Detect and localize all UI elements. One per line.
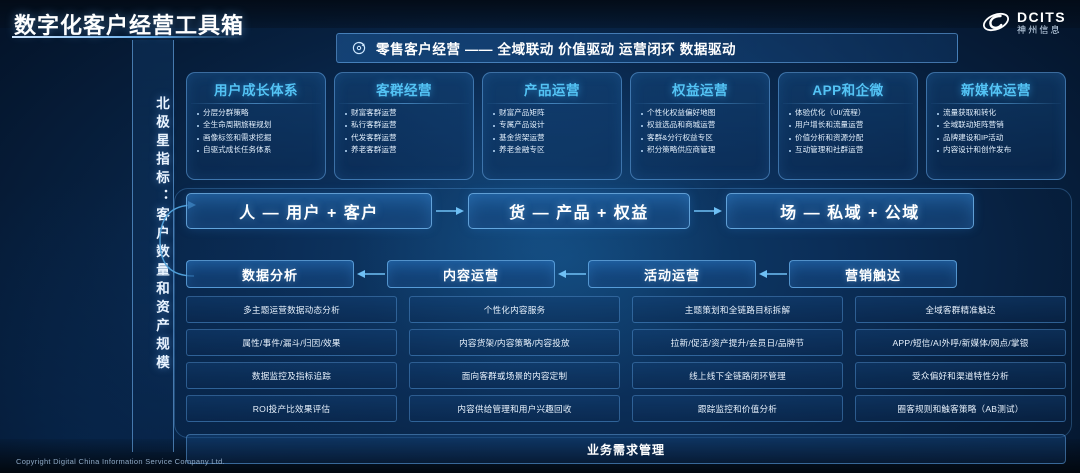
capability-card[interactable]: 客群经营 财富客群运营 私行客群运营 代发客群运营 养老客群运营	[334, 72, 474, 180]
card-title: 产品运营	[487, 79, 617, 103]
detail-grid: 多主题运营数据动态分析 属性/事件/漏斗/归因/效果 数据监控及指标追踪 ROI…	[186, 296, 1066, 426]
flow-pill-row: 人 — 用户 + 客户 货 — 产品 + 权益 场 — 私域 + 公域	[186, 193, 1066, 229]
list-item-label: 全生命周期旅程规划	[203, 120, 271, 130]
bottom-bar[interactable]: 业务需求管理	[186, 434, 1066, 464]
bullet-icon	[345, 113, 347, 115]
headline-banner: 零售客户经营 —— 全域联动 价值驱动 运营闭环 数据驱动	[336, 33, 958, 63]
list-item: 品牌建设和IP活动	[937, 133, 1059, 143]
list-item-label: 用户增长和流量运营	[795, 120, 863, 130]
detail-cell[interactable]: 圈客规则和触客策略（AB测试）	[855, 395, 1066, 422]
detail-cell[interactable]: 拉新/促活/资产提升/会员日/品牌节	[632, 329, 843, 356]
list-item-label: 财富产品矩阵	[499, 108, 545, 118]
list-item: 财富客群运营	[345, 108, 467, 118]
list-item-label: 基金货架运营	[499, 133, 545, 143]
detail-cell[interactable]: 全域客群精准触达	[855, 296, 1066, 323]
list-item: 内容设计和创作发布	[937, 145, 1059, 155]
list-item-label: 流量获取和转化	[943, 108, 996, 118]
detail-column-campaign-ops: 主题策划和全链路目标拆解 拉新/促活/资产提升/会员日/品牌节 线上线下全链路闭…	[632, 296, 843, 426]
list-item: 积分策略供应商管理	[641, 145, 763, 155]
detail-column-data-analysis: 多主题运营数据动态分析 属性/事件/漏斗/归因/效果 数据监控及指标追踪 ROI…	[186, 296, 397, 426]
list-item: 全生命周期旅程规划	[197, 120, 319, 130]
card-list: 体验优化（UI/流程） 用户增长和流量运营 价值分析和资源分配 互动管理和社群运…	[783, 104, 913, 155]
section-header-row: 数据分析 内容运营 活动运营 营销触达	[186, 260, 1066, 288]
capability-card-row: 用户成长体系 分层分群策略 全生命周期旅程规划 画像标签和需求挖掘 自驱式成长任…	[186, 72, 1066, 180]
card-list: 个性化权益偏好地图 权益选品和商城运营 客群&分行权益专区 积分策略供应商管理	[635, 104, 765, 155]
detail-cell[interactable]: 数据监控及指标追踪	[186, 362, 397, 389]
bullet-icon	[789, 150, 791, 152]
bullet-icon	[641, 113, 643, 115]
section-header-campaign-ops[interactable]: 活动运营	[588, 260, 756, 288]
list-item-label: 画像标签和需求挖掘	[203, 133, 271, 143]
list-item-label: 养老金融专区	[499, 145, 545, 155]
list-item-label: 价值分析和资源分配	[795, 133, 863, 143]
bullet-icon	[641, 125, 643, 127]
section-header-content-ops[interactable]: 内容运营	[387, 260, 555, 288]
list-item-label: 内容设计和创作发布	[943, 145, 1011, 155]
flow-arrow-right	[432, 205, 468, 217]
card-list: 分层分群策略 全生命周期旅程规划 画像标签和需求挖掘 自驱式成长任务体系	[191, 104, 321, 155]
detail-cell[interactable]: 线上线下全链路闭环管理	[632, 362, 843, 389]
logo-text-en: DCITS	[1017, 10, 1066, 24]
list-item: 权益选品和商城运营	[641, 120, 763, 130]
list-item-label: 积分策略供应商管理	[647, 145, 715, 155]
list-item: 私行客群运营	[345, 120, 467, 130]
bullet-icon	[197, 125, 199, 127]
list-item: 价值分析和资源分配	[789, 133, 911, 143]
section-header-marketing-reach[interactable]: 营销触达	[789, 260, 957, 288]
list-item: 专属产品设计	[493, 120, 615, 130]
flow-arrow-left	[354, 268, 387, 280]
bullet-icon	[197, 113, 199, 115]
list-item-label: 财富客群运营	[351, 108, 397, 118]
card-title: 权益运营	[635, 79, 765, 103]
capability-card[interactable]: 新媒体运营 流量获取和转化 全域联动矩阵营销 品牌建设和IP活动 内容设计和创作…	[926, 72, 1066, 180]
list-item: 自驱式成长任务体系	[197, 145, 319, 155]
flow-arrow-right	[690, 205, 726, 217]
bullet-icon	[789, 138, 791, 140]
title-underline	[12, 36, 244, 38]
list-item-label: 体验优化（UI/流程）	[795, 108, 865, 118]
swirl-logo-icon	[981, 9, 1011, 35]
card-title: 客群经营	[339, 79, 469, 103]
list-item: 互动管理和社群运营	[789, 145, 911, 155]
logo-text-cn: 神州信息	[1017, 26, 1066, 35]
list-item: 体验优化（UI/流程）	[789, 108, 911, 118]
section-header-data-analysis[interactable]: 数据分析	[186, 260, 354, 288]
bullet-icon	[493, 125, 495, 127]
list-item-label: 代发客群运营	[351, 133, 397, 143]
list-item: 流量获取和转化	[937, 108, 1059, 118]
bullet-icon	[197, 150, 199, 152]
card-title: 新媒体运营	[931, 79, 1061, 103]
flow-pill-goods[interactable]: 货 — 产品 + 权益	[468, 193, 690, 229]
list-item: 代发客群运营	[345, 133, 467, 143]
list-item: 画像标签和需求挖掘	[197, 133, 319, 143]
list-item-label: 分层分群策略	[203, 108, 249, 118]
card-title: 用户成长体系	[191, 79, 321, 103]
bullet-icon	[937, 150, 939, 152]
list-item: 养老金融专区	[493, 145, 615, 155]
target-refresh-icon	[351, 40, 367, 56]
bullet-icon	[345, 138, 347, 140]
detail-cell[interactable]: 个性化内容服务	[409, 296, 620, 323]
list-item-label: 客群&分行权益专区	[647, 133, 713, 143]
bullet-icon	[345, 150, 347, 152]
bullet-icon	[641, 150, 643, 152]
list-item-label: 自驱式成长任务体系	[203, 145, 271, 155]
detail-cell[interactable]: 主题策划和全链路目标拆解	[632, 296, 843, 323]
bullet-icon	[937, 138, 939, 140]
brand-logo: DCITS 神州信息	[981, 9, 1066, 35]
card-list: 流量获取和转化 全域联动矩阵营销 品牌建设和IP活动 内容设计和创作发布	[931, 104, 1061, 155]
bullet-icon	[789, 125, 791, 127]
bullet-icon	[937, 125, 939, 127]
detail-cell[interactable]: 属性/事件/漏斗/归因/效果	[186, 329, 397, 356]
capability-card[interactable]: 权益运营 个性化权益偏好地图 权益选品和商城运营 客群&分行权益专区 积分策略供…	[630, 72, 770, 180]
detail-column-content-ops: 个性化内容服务 内容货架/内容策略/内容投放 面向客群或场景的内容定制 内容供给…	[409, 296, 620, 426]
card-list: 财富客群运营 私行客群运营 代发客群运营 养老客群运营	[339, 104, 469, 155]
card-list: 财富产品矩阵 专属产品设计 基金货架运营 养老金融专区	[487, 104, 617, 155]
bullet-icon	[493, 138, 495, 140]
list-item: 分层分群策略	[197, 108, 319, 118]
list-item: 用户增长和流量运营	[789, 120, 911, 130]
list-item: 基金货架运营	[493, 133, 615, 143]
bullet-icon	[789, 113, 791, 115]
list-item-label: 权益选品和商城运营	[647, 120, 715, 130]
list-item: 财富产品矩阵	[493, 108, 615, 118]
capability-card[interactable]: APP和企微 体验优化（UI/流程） 用户增长和流量运营 价值分析和资源分配 互…	[778, 72, 918, 180]
detail-cell[interactable]: 内容供给管理和用户兴趣回收	[409, 395, 620, 422]
detail-cell[interactable]: APP/短信/AI外呼/新媒体/网点/掌银	[855, 329, 1066, 356]
detail-cell[interactable]: ROI投产比效果评估	[186, 395, 397, 422]
bullet-icon	[937, 113, 939, 115]
list-item-label: 专属产品设计	[499, 120, 545, 130]
flow-pill-place[interactable]: 场 — 私域 + 公域	[726, 193, 974, 229]
bullet-icon	[641, 138, 643, 140]
copyright-text: Copyright Digital China Information Serv…	[16, 457, 225, 466]
list-item-label: 私行客群运营	[351, 120, 397, 130]
detail-cell[interactable]: 受众偏好和渠道特性分析	[855, 362, 1066, 389]
flow-arrow-left	[756, 268, 789, 280]
detail-cell[interactable]: 多主题运营数据动态分析	[186, 296, 397, 323]
detail-cell[interactable]: 跟踪监控和价值分析	[632, 395, 843, 422]
banner-text: 零售客户经营 —— 全域联动 价值驱动 运营闭环 数据驱动	[376, 38, 736, 58]
list-item: 养老客群运营	[345, 145, 467, 155]
detail-column-marketing-reach: 全域客群精准触达 APP/短信/AI外呼/新媒体/网点/掌银 受众偏好和渠道特性…	[855, 296, 1066, 426]
list-item-label: 全域联动矩阵营销	[943, 120, 1004, 130]
list-item-label: 互动管理和社群运营	[795, 145, 863, 155]
list-item-label: 养老客群运营	[351, 145, 397, 155]
detail-cell[interactable]: 面向客群或场景的内容定制	[409, 362, 620, 389]
capability-card[interactable]: 产品运营 财富产品矩阵 专属产品设计 基金货架运营 养老金融专区	[482, 72, 622, 180]
card-title: APP和企微	[783, 79, 913, 103]
list-item: 个性化权益偏好地图	[641, 108, 763, 118]
list-item-label: 品牌建设和IP活动	[943, 133, 1003, 143]
bullet-icon	[197, 138, 199, 140]
bullet-icon	[493, 150, 495, 152]
detail-cell[interactable]: 内容货架/内容策略/内容投放	[409, 329, 620, 356]
list-item: 全域联动矩阵营销	[937, 120, 1059, 130]
list-item-label: 个性化权益偏好地图	[647, 108, 715, 118]
flow-pill-people[interactable]: 人 — 用户 + 客户	[186, 193, 432, 229]
list-item: 客群&分行权益专区	[641, 133, 763, 143]
capability-card[interactable]: 用户成长体系 分层分群策略 全生命周期旅程规划 画像标签和需求挖掘 自驱式成长任…	[186, 72, 326, 180]
bullet-icon	[493, 113, 495, 115]
bullet-icon	[345, 125, 347, 127]
flow-arrow-left	[555, 268, 588, 280]
